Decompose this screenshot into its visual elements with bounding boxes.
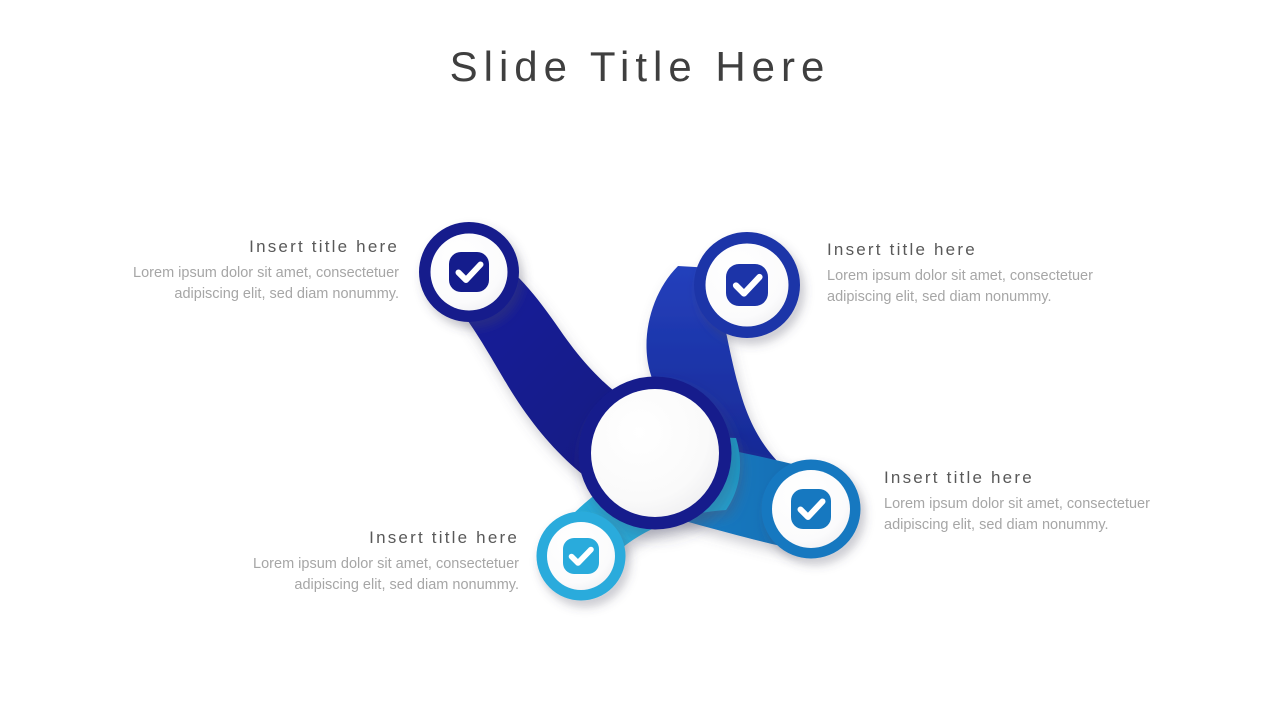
item-body: Lorem ipsum dolor sit amet, consectetuer…	[884, 494, 1184, 536]
node-top-right[interactable]	[700, 238, 794, 332]
slide-canvas: Slide Title Here	[0, 0, 1280, 720]
item-title: Insert title here	[219, 527, 519, 549]
item-title: Insert title here	[884, 467, 1184, 489]
check-badge-top-right	[726, 264, 768, 306]
item-bottom-left[interactable]: Insert title here Lorem ipsum dolor sit …	[219, 527, 519, 596]
item-body: Lorem ipsum dolor sit amet, consectetuer…	[827, 266, 1127, 308]
center-hub[interactable]	[585, 383, 725, 523]
node-middle-right[interactable]	[767, 465, 855, 553]
check-badge-middle-right	[791, 489, 831, 529]
item-middle-right[interactable]: Insert title here Lorem ipsum dolor sit …	[884, 467, 1184, 536]
item-top-right[interactable]: Insert title here Lorem ipsum dolor sit …	[827, 239, 1127, 308]
item-title: Insert title here	[827, 239, 1127, 261]
item-title: Insert title here	[99, 236, 399, 258]
hub-and-spoke-diagram	[0, 0, 1280, 720]
hub-fill	[591, 389, 719, 517]
item-body: Lorem ipsum dolor sit amet, consectetuer…	[99, 263, 399, 305]
check-badge-top-left	[449, 252, 489, 292]
node-bottom-left[interactable]	[542, 517, 620, 595]
node-top-left[interactable]	[425, 228, 513, 316]
item-top-left[interactable]: Insert title here Lorem ipsum dolor sit …	[99, 236, 399, 305]
item-body: Lorem ipsum dolor sit amet, consectetuer…	[219, 554, 519, 596]
